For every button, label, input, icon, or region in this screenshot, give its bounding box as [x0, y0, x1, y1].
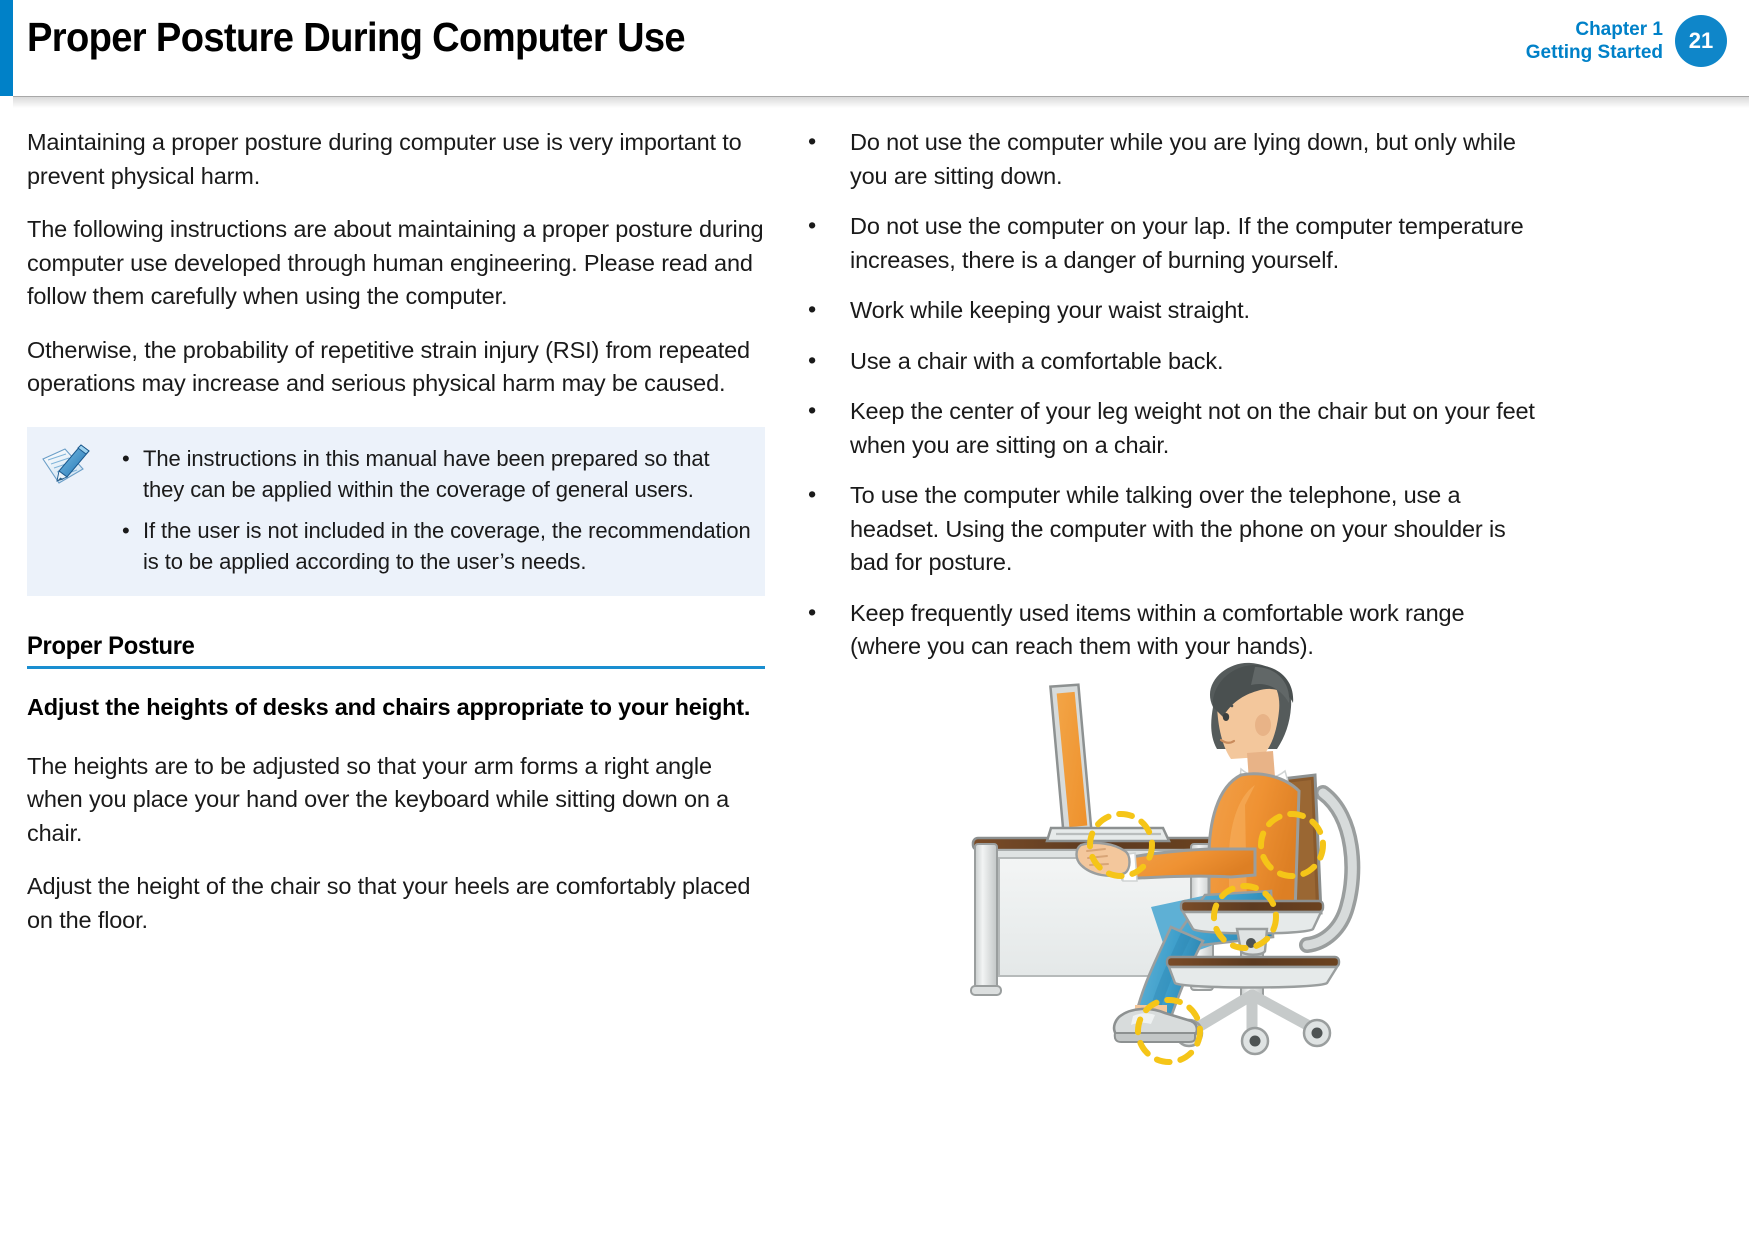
list-item: • To use the computer while talking over…	[800, 479, 1540, 580]
section-heading-rule	[27, 666, 765, 669]
chapter-label: Chapter 1	[1526, 18, 1663, 41]
list-item-text: Do not use the computer while you are ly…	[850, 129, 1516, 189]
note-item: • The instructions in this manual have b…	[27, 443, 753, 506]
right-column: • Do not use the computer while you are …	[800, 126, 1540, 681]
header-accent-bar	[0, 0, 13, 96]
note-item: • If the user is not included in the cov…	[27, 515, 753, 578]
header-divider	[13, 96, 1749, 108]
page-title: Proper Posture During Computer Use	[27, 14, 685, 61]
bullet-glyph: •	[808, 209, 816, 243]
list-item-text: Use a chair with a comfortable back.	[850, 348, 1223, 374]
intro-paragraph-3: Otherwise, the probability of repetitive…	[27, 334, 765, 401]
page-number-badge: 21	[1675, 15, 1727, 67]
list-item: • Work while keeping your waist straight…	[800, 294, 1540, 328]
bullet-glyph: •	[122, 443, 130, 475]
note-item-text: If the user is not included in the cover…	[143, 518, 751, 575]
list-item: • Use a chair with a comfortable back.	[800, 345, 1540, 379]
section-paragraph-1: The heights are to be adjusted so that y…	[27, 750, 765, 851]
chapter-block: Chapter 1 Getting Started	[1526, 18, 1663, 64]
header-chapter-group: Chapter 1 Getting Started 21	[1526, 15, 1749, 67]
section-paragraph-2: Adjust the height of the chair so that y…	[27, 870, 765, 937]
bullet-glyph: •	[122, 515, 130, 547]
section-heading: Proper Posture	[27, 632, 728, 666]
list-item: • Do not use the computer on your lap. I…	[800, 210, 1540, 277]
intro-paragraph-2: The following instructions are about mai…	[27, 213, 765, 314]
note-item-text: The instructions in this manual have bee…	[143, 446, 710, 503]
list-item: • Do not use the computer while you are …	[800, 126, 1540, 193]
list-item-text: Keep the center of your leg weight not o…	[850, 398, 1535, 458]
note-list: • The instructions in this manual have b…	[27, 443, 753, 578]
section-subheading: Adjust the heights of desks and chairs a…	[27, 691, 765, 724]
intro-paragraph-1: Maintaining a proper posture during comp…	[27, 126, 765, 193]
bullet-glyph: •	[808, 344, 816, 378]
bullet-glyph: •	[808, 478, 816, 512]
chapter-name: Getting Started	[1526, 41, 1663, 64]
list-item: • Keep the center of your leg weight not…	[800, 395, 1540, 462]
bullet-glyph: •	[808, 394, 816, 428]
page-header: Proper Posture During Computer Use Chapt…	[0, 0, 1749, 96]
bullet-glyph: •	[808, 596, 816, 630]
bullet-glyph: •	[808, 125, 816, 159]
guideline-bullet-list: • Do not use the computer while you are …	[800, 126, 1540, 664]
left-column: Maintaining a proper posture during comp…	[27, 126, 765, 957]
note-box: • The instructions in this manual have b…	[27, 427, 765, 596]
list-item-text: To use the computer while talking over t…	[850, 482, 1506, 575]
list-item-text: Do not use the computer on your lap. If …	[850, 213, 1524, 273]
list-item-text: Work while keeping your waist straight.	[850, 297, 1250, 323]
proper-posture-illustration	[955, 645, 1425, 1075]
bullet-glyph: •	[808, 293, 816, 327]
